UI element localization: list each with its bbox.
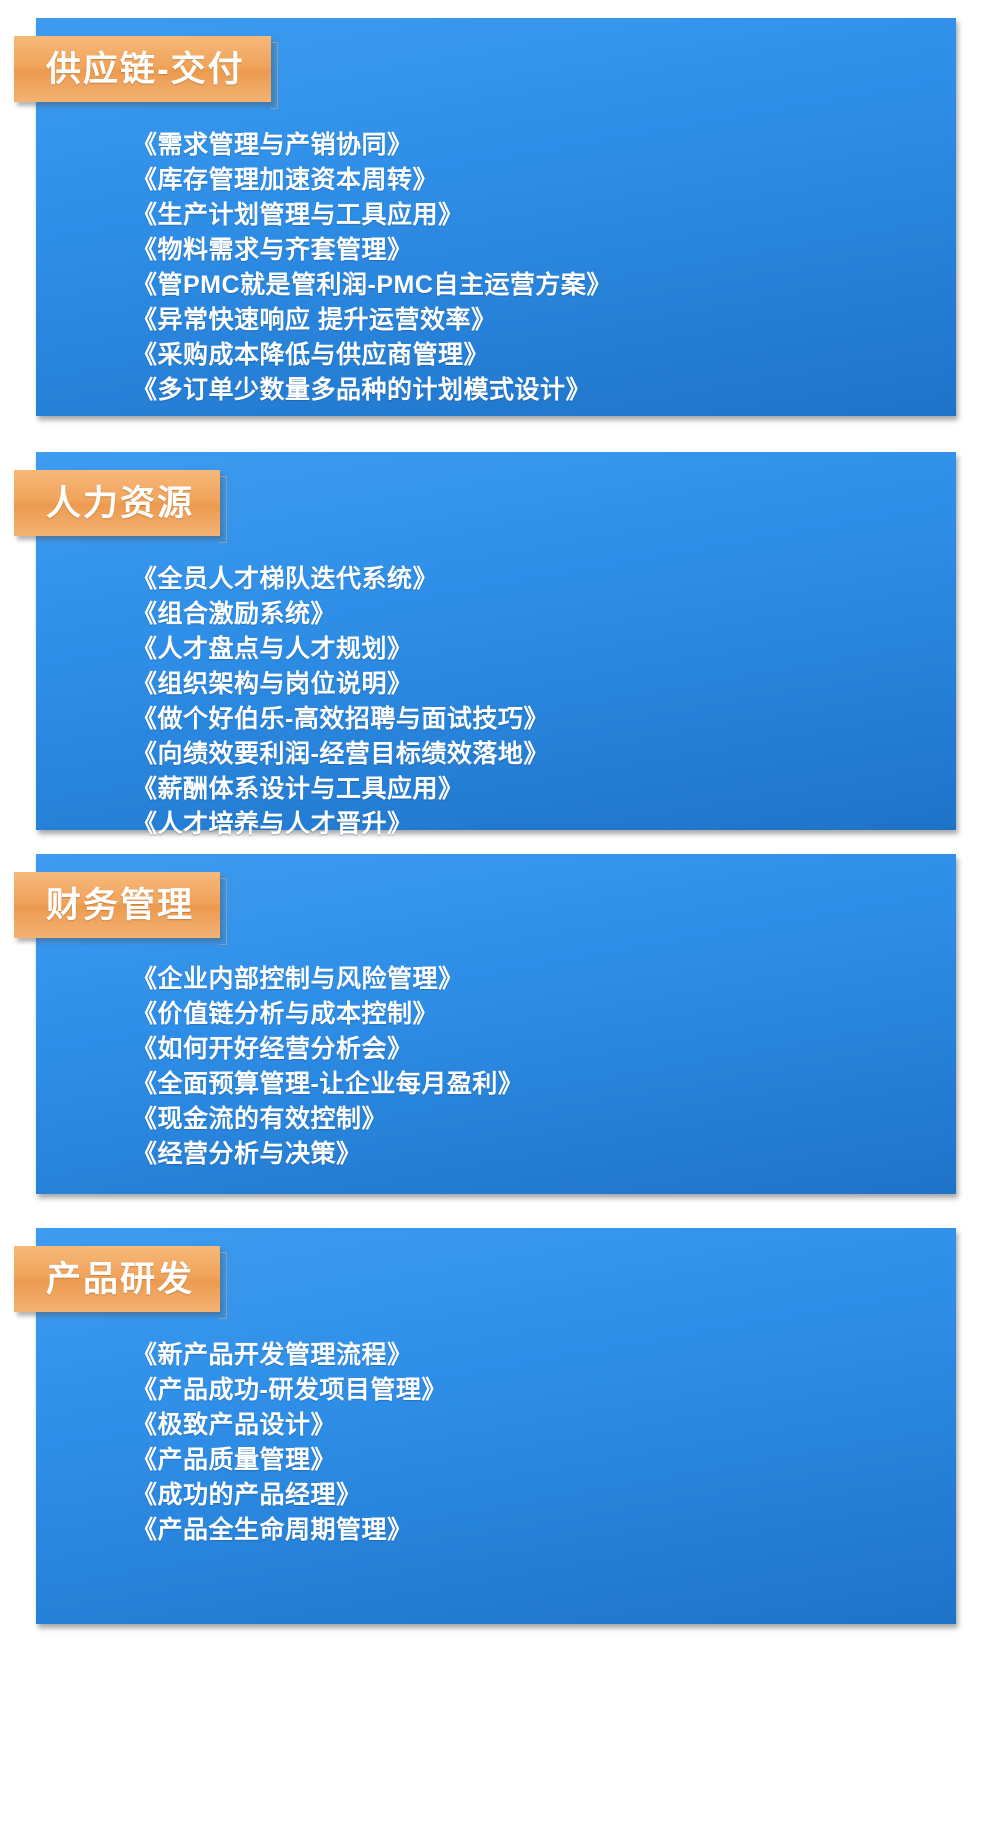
- course-item: 《现金流的有效控制》: [132, 1102, 936, 1137]
- section-inner: 产品研发 《新产品开发管理流程》 《产品成功-研发项目管理》 《极致产品设计》 …: [36, 1228, 956, 1624]
- course-item: 《异常快速响应 提升运营效率》: [132, 303, 936, 338]
- course-item: 《成功的产品经理》: [132, 1478, 936, 1513]
- course-item: 《人才盘点与人才规划》: [132, 632, 936, 667]
- section-inner: 财务管理 《企业内部控制与风险管理》 《价值链分析与成本控制》 《如何开好经营分…: [36, 854, 956, 1194]
- course-item: 《如何开好经营分析会》: [132, 1032, 936, 1067]
- course-item: 《需求管理与产销协同》: [132, 128, 936, 163]
- course-section-human-resources: 人力资源 《全员人才梯队迭代系统》 《组合激励系统》 《人才盘点与人才规划》 《…: [36, 452, 956, 830]
- course-item: 《组合激励系统》: [132, 597, 936, 632]
- course-section-product-rd: 产品研发 《新产品开发管理流程》 《产品成功-研发项目管理》 《极致产品设计》 …: [36, 1228, 956, 1624]
- course-list-supply-chain: 《需求管理与产销协同》 《库存管理加速资本周转》 《生产计划管理与工具应用》 《…: [132, 128, 936, 408]
- section-title-tab-product-rd: 产品研发: [14, 1246, 220, 1312]
- course-item: 《新产品开发管理流程》: [132, 1338, 936, 1373]
- course-item: 《企业内部控制与风险管理》: [132, 962, 936, 997]
- section-title-tab-supply-chain: 供应链-交付: [14, 36, 271, 102]
- course-item: 《组织架构与岗位说明》: [132, 667, 936, 702]
- course-item: 《向绩效要利润-经营目标绩效落地》: [132, 737, 936, 772]
- course-item: 《全员人才梯队迭代系统》: [132, 562, 936, 597]
- section-inner: 供应链-交付 《需求管理与产销协同》 《库存管理加速资本周转》 《生产计划管理与…: [36, 18, 956, 416]
- section-title-label: 产品研发: [46, 1262, 194, 1297]
- course-item: 《极致产品设计》: [132, 1408, 936, 1443]
- course-item: 《产品全生命周期管理》: [132, 1513, 936, 1548]
- section-inner: 人力资源 《全员人才梯队迭代系统》 《组合激励系统》 《人才盘点与人才规划》 《…: [36, 452, 956, 830]
- course-item: 《多订单少数量多品种的计划模式设计》: [132, 373, 936, 408]
- course-item: 《价值链分析与成本控制》: [132, 997, 936, 1032]
- course-item: 《做个好伯乐-高效招聘与面试技巧》: [132, 702, 936, 737]
- course-list-product-rd: 《新产品开发管理流程》 《产品成功-研发项目管理》 《极致产品设计》 《产品质量…: [132, 1338, 936, 1548]
- course-item: 《产品成功-研发项目管理》: [132, 1373, 936, 1408]
- section-title-tab-finance: 财务管理: [14, 872, 220, 938]
- section-title-tab-human-resources: 人力资源: [14, 470, 220, 536]
- course-item: 《人才培养与人才晋升》: [132, 807, 936, 842]
- course-item: 《管PMC就是管利润-PMC自主运营方案》: [132, 268, 936, 303]
- course-list-human-resources: 《全员人才梯队迭代系统》 《组合激励系统》 《人才盘点与人才规划》 《组织架构与…: [132, 562, 936, 842]
- course-item: 《生产计划管理与工具应用》: [132, 198, 936, 233]
- course-item: 《物料需求与齐套管理》: [132, 233, 936, 268]
- course-item: 《产品质量管理》: [132, 1443, 936, 1478]
- section-title-label: 财务管理: [46, 888, 194, 923]
- section-title-label: 人力资源: [46, 486, 194, 521]
- course-item: 《薪酬体系设计与工具应用》: [132, 772, 936, 807]
- course-list-finance: 《企业内部控制与风险管理》 《价值链分析与成本控制》 《如何开好经营分析会》 《…: [132, 962, 936, 1172]
- course-catalog-page: 供应链-交付 《需求管理与产销协同》 《库存管理加速资本周转》 《生产计划管理与…: [0, 0, 1000, 1822]
- course-item: 《库存管理加速资本周转》: [132, 163, 936, 198]
- course-item: 《全面预算管理-让企业每月盈利》: [132, 1067, 936, 1102]
- section-title-label: 供应链-交付: [46, 52, 245, 87]
- course-item: 《经营分析与决策》: [132, 1137, 936, 1172]
- course-item: 《采购成本降低与供应商管理》: [132, 338, 936, 373]
- course-section-finance: 财务管理 《企业内部控制与风险管理》 《价值链分析与成本控制》 《如何开好经营分…: [36, 854, 956, 1194]
- course-section-supply-chain: 供应链-交付 《需求管理与产销协同》 《库存管理加速资本周转》 《生产计划管理与…: [36, 18, 956, 416]
